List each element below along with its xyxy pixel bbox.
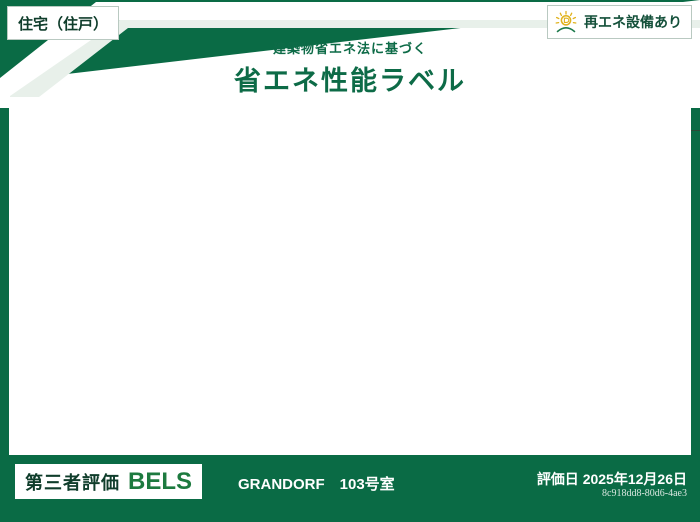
building-name: GRANDORF 103号室: [238, 473, 395, 494]
evaluation-date: 評価日 2025年12月26日: [537, 469, 687, 489]
title-block: 建築物省エネ法に基づく 省エネ性能ラベル: [0, 38, 700, 98]
main-card: [9, 97, 691, 455]
title-subtitle: 建築物省エネ法に基づく: [0, 38, 700, 57]
solar-sun-icon: [554, 10, 578, 34]
renewable-badge-label: 再エネ設備あり: [584, 12, 682, 32]
renewable-equipment-badge: 再エネ設備あり: [547, 5, 692, 39]
footer-bar: 第三者評価 BELS GRANDORF 103号室 評価日 2025年12月26…: [0, 455, 700, 522]
type-badge: 住宅（住戸）: [7, 6, 119, 40]
third-party-label: 第三者評価: [25, 469, 120, 495]
bels-plate: 第三者評価 BELS: [15, 464, 202, 499]
evaluation-id: 8c918dd8-80d6-4ae3: [602, 488, 687, 499]
type-badge-label: 住宅（住戸）: [18, 13, 108, 34]
bels-energy-label: 住宅（住戸） 再エネ設備あり 建築物省エネ法に基づく 省エネ性能ラベル: [0, 0, 700, 522]
bels-logo-text: BELS: [128, 468, 192, 496]
page-title: 省エネ性能ラベル: [0, 59, 700, 98]
